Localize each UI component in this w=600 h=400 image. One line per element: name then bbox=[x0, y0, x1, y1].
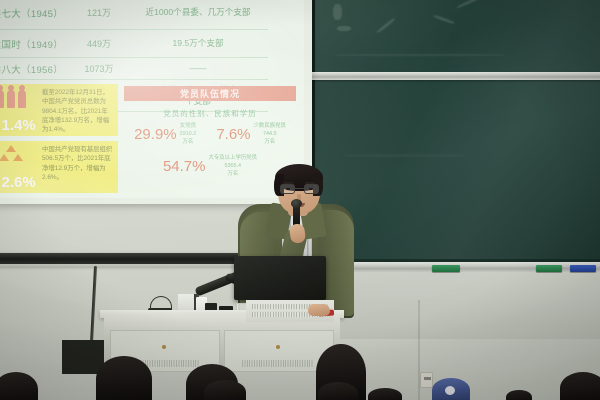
lecture-hall-scene: 中共七大（1945） 121万 近1000个县委、几万个支部 建国时（1949）… bbox=[0, 0, 600, 400]
wall-lighting bbox=[0, 0, 600, 400]
